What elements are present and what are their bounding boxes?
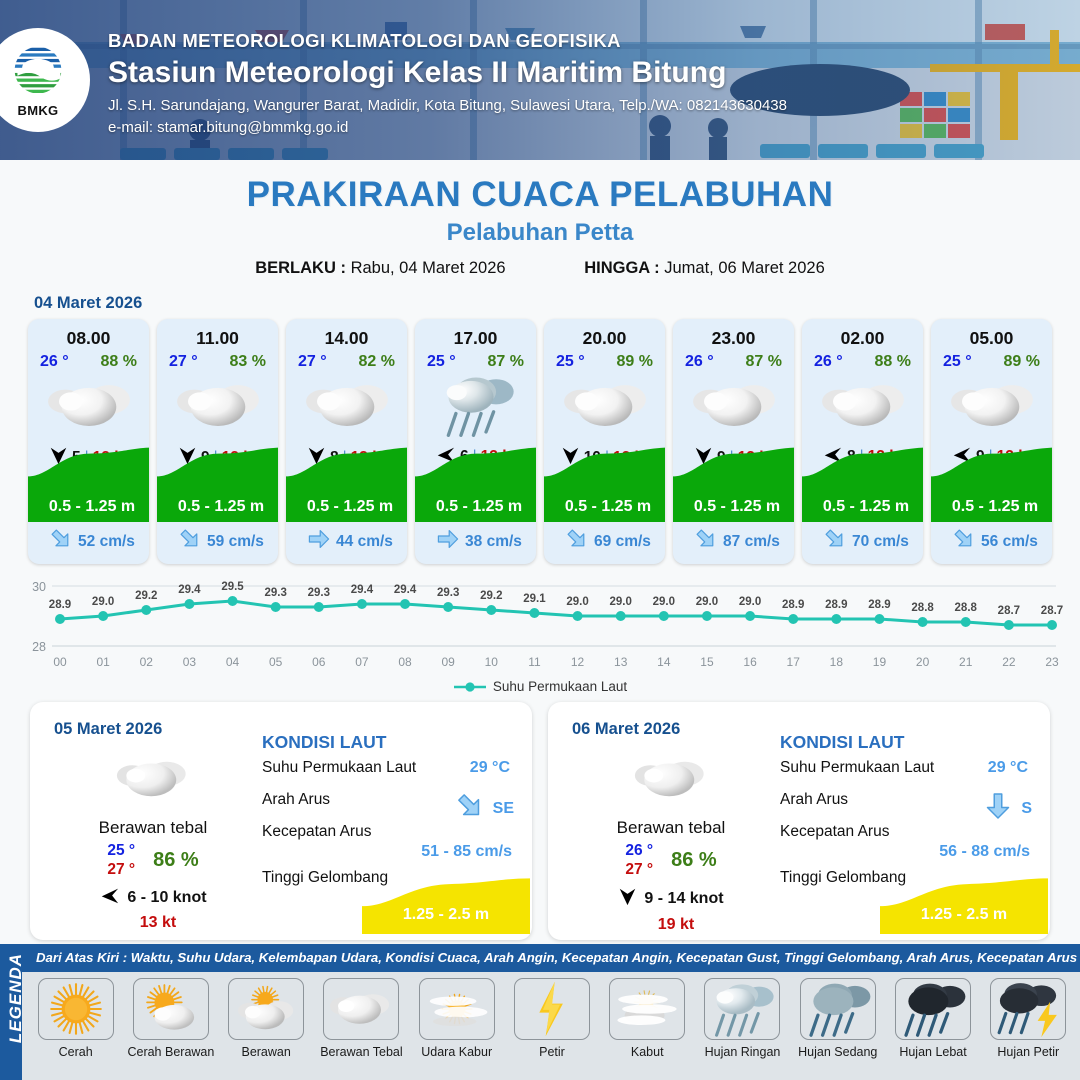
svg-text:28.9: 28.9 bbox=[868, 599, 890, 611]
current-speed-label: Kecepatan Arus bbox=[780, 823, 889, 840]
svg-text:19: 19 bbox=[873, 655, 887, 669]
card-time: 08.00 bbox=[28, 319, 149, 349]
panel-weather-block: Berawan tebal 25 ° 27 ° 86 % 6 - 10 knot… bbox=[48, 748, 258, 932]
card-temperature: 26 ° bbox=[814, 353, 843, 371]
panel-temp-min: 26 ° bbox=[625, 842, 653, 859]
current-direction-arrow-icon bbox=[823, 527, 847, 556]
svg-text:29.2: 29.2 bbox=[480, 590, 502, 602]
day-summary-panel[interactable]: 06 Maret 2026 Berawan tebal 26 ° 27 ° 86… bbox=[548, 702, 1050, 940]
sea-condition-title: KONDISI LAUT bbox=[780, 732, 1036, 753]
current-direction-arrow-icon bbox=[565, 527, 589, 556]
panel-wind-row: 9 - 14 knot bbox=[566, 886, 776, 912]
current-direction-value: S bbox=[1021, 800, 1032, 818]
card-humidity: 88 % bbox=[875, 353, 911, 371]
cloudy-icon bbox=[286, 375, 407, 437]
station-address: Jl. S.H. Sarundajang, Wangurer Barat, Ma… bbox=[108, 97, 787, 114]
svg-text:29.2: 29.2 bbox=[135, 590, 157, 602]
cloudy-icon bbox=[157, 375, 278, 437]
legend-item-label: Berawan bbox=[223, 1045, 310, 1059]
wind-direction-arrow-icon bbox=[99, 886, 120, 910]
svg-text:04: 04 bbox=[226, 655, 240, 669]
berlaku-label: BERLAKU : bbox=[255, 259, 346, 277]
card-current-speed: 52 cm/s bbox=[78, 533, 135, 551]
svg-text:11: 11 bbox=[528, 655, 541, 669]
current-direction-arrow-icon bbox=[983, 791, 1013, 826]
svg-text:08: 08 bbox=[398, 655, 412, 669]
card-humidity: 88 % bbox=[101, 353, 137, 371]
legend-item-label: Petir bbox=[508, 1045, 595, 1059]
hingga-label: HINGGA : bbox=[584, 259, 659, 277]
sun-cloud-icon bbox=[133, 978, 209, 1040]
legend-item-label: Hujan Lebat bbox=[889, 1045, 976, 1059]
station-email: e-mail: stamar.bitung@bmmkg.go.id bbox=[108, 119, 787, 136]
sst-value: 29 °C bbox=[988, 759, 1028, 777]
panel-temp-max: 27 ° bbox=[625, 861, 653, 878]
card-time: 02.00 bbox=[802, 319, 923, 349]
cloudy-icon bbox=[931, 375, 1052, 437]
cloudy-icon bbox=[544, 375, 665, 437]
chart-legend-marker-icon bbox=[453, 681, 487, 693]
panel-wind-range: 6 - 10 knot bbox=[127, 889, 206, 907]
svg-text:29.0: 29.0 bbox=[92, 596, 114, 608]
cloudy-icon bbox=[28, 375, 149, 437]
svg-text:29.3: 29.3 bbox=[437, 587, 459, 599]
forecast-card[interactable]: 02.00 26 ° 88 % 8 | 12 kt 0.5 - 1.25 m 7… bbox=[802, 319, 923, 564]
svg-text:16: 16 bbox=[743, 655, 757, 669]
svg-text:28.9: 28.9 bbox=[49, 599, 71, 611]
legend-item: Hujan Petir bbox=[985, 976, 1072, 1080]
svg-text:29.3: 29.3 bbox=[308, 587, 330, 599]
cloudy-icon bbox=[673, 375, 794, 437]
card-current-speed: 59 cm/s bbox=[207, 533, 264, 551]
thick-cloud-icon bbox=[566, 748, 776, 810]
forecast-card[interactable]: 08.00 26 ° 88 % 5 | 12 kt 0.5 - 1.25 m 5… bbox=[28, 319, 149, 564]
card-current-row: 38 cm/s bbox=[415, 527, 536, 556]
daily-summary-panels: 05 Maret 2026 Berawan tebal 25 ° 27 ° 86… bbox=[0, 694, 1080, 940]
card-current-speed: 70 cm/s bbox=[852, 533, 909, 551]
svg-text:28.7: 28.7 bbox=[998, 605, 1020, 617]
card-current-speed: 38 cm/s bbox=[465, 533, 522, 551]
card-wave-height: 0.5 - 1.25 m bbox=[931, 498, 1052, 516]
legend-item: Cerah bbox=[32, 976, 119, 1080]
card-wave-height: 0.5 - 1.25 m bbox=[286, 498, 407, 516]
svg-text:05: 05 bbox=[269, 655, 283, 669]
svg-text:17: 17 bbox=[787, 655, 801, 669]
card-current-row: 87 cm/s bbox=[673, 527, 794, 556]
chart-legend-label: Suhu Permukaan Laut bbox=[493, 679, 627, 694]
panel-gust: 13 kt bbox=[48, 914, 258, 932]
current-direction-line: Arah Arus S bbox=[780, 791, 1036, 823]
bmkg-emblem-icon bbox=[6, 44, 70, 100]
card-current-speed: 44 cm/s bbox=[336, 533, 393, 551]
svg-text:10: 10 bbox=[485, 655, 499, 669]
legend-item-label: Cerah Berawan bbox=[127, 1045, 214, 1059]
card-wave-height: 0.5 - 1.25 m bbox=[415, 498, 536, 516]
panel-wave-graphic bbox=[362, 876, 530, 934]
svg-text:22: 22 bbox=[1002, 655, 1016, 669]
sst-line: Suhu Permukaan Laut 29 °C bbox=[262, 759, 518, 791]
panel-temp-row: 25 ° 27 ° 86 % bbox=[48, 842, 258, 880]
heavy-rain-icon bbox=[895, 978, 971, 1040]
current-direction-value-wrap: S bbox=[983, 791, 1032, 826]
forecast-card-list: 08.00 26 ° 88 % 5 | 12 kt 0.5 - 1.25 m 5… bbox=[0, 319, 1080, 564]
card-temperature: 26 ° bbox=[685, 353, 714, 371]
panel-humidity: 86 % bbox=[153, 849, 199, 872]
panel-temp-range: 25 ° 27 ° bbox=[107, 842, 135, 880]
bmkg-logo-text: BMKG bbox=[6, 103, 70, 118]
legend-item: Cerah Berawan bbox=[127, 976, 214, 1080]
thick-cloud-icon bbox=[323, 978, 399, 1040]
forecast-card[interactable]: 23.00 26 ° 87 % 9 | 12 kt 0.5 - 1.25 m 8… bbox=[673, 319, 794, 564]
svg-text:29.4: 29.4 bbox=[394, 584, 417, 596]
panel-gust: 19 kt bbox=[566, 916, 776, 934]
card-current-row: 56 cm/s bbox=[931, 527, 1052, 556]
haze-icon bbox=[419, 978, 495, 1040]
sst-label: Suhu Permukaan Laut bbox=[780, 759, 934, 776]
legend-item-label: Cerah bbox=[32, 1045, 119, 1059]
legend-item: Berawan bbox=[223, 976, 310, 1080]
svg-text:29.5: 29.5 bbox=[221, 581, 244, 593]
sst-chart: 302828.929.029.229.429.529.329.329.429.4… bbox=[14, 574, 1066, 676]
card-temperature: 27 ° bbox=[169, 353, 198, 371]
svg-text:00: 00 bbox=[53, 655, 67, 669]
current-speed-value: 51 - 85 cm/s bbox=[421, 843, 512, 861]
panel-temp-max: 27 ° bbox=[107, 861, 135, 878]
svg-text:18: 18 bbox=[830, 655, 844, 669]
svg-text:28: 28 bbox=[32, 640, 46, 654]
card-temp-humidity-row: 26 ° 88 % bbox=[28, 349, 149, 371]
sst-chart-svg: 302828.929.029.229.429.529.329.329.429.4… bbox=[14, 574, 1066, 676]
light-rain-icon bbox=[704, 978, 780, 1040]
svg-text:01: 01 bbox=[96, 655, 110, 669]
validity-row: BERLAKU : Rabu, 04 Maret 2026 HINGGA : J… bbox=[0, 259, 1080, 278]
legend-item-label: Hujan Ringan bbox=[699, 1045, 786, 1059]
svg-text:29.1: 29.1 bbox=[523, 593, 546, 605]
svg-text:06: 06 bbox=[312, 655, 326, 669]
card-current-row: 69 cm/s bbox=[544, 527, 665, 556]
svg-text:15: 15 bbox=[700, 655, 714, 669]
svg-text:29.0: 29.0 bbox=[566, 596, 588, 608]
forecast-card[interactable]: 14.00 27 ° 82 % 8 | 13 kt 0.5 - 1.25 m 4… bbox=[286, 319, 407, 564]
svg-text:29.4: 29.4 bbox=[351, 584, 374, 596]
legend-item-label: Kabut bbox=[604, 1045, 691, 1059]
title-block: PRAKIRAAN CUACA PELABUHAN Pelabuhan Pett… bbox=[0, 160, 1080, 278]
card-temp-humidity-row: 26 ° 88 % bbox=[802, 349, 923, 371]
svg-text:28.9: 28.9 bbox=[825, 599, 847, 611]
svg-text:13: 13 bbox=[614, 655, 628, 669]
legend-items: Cerah Cerah Berawan Berawan Berawan Teba… bbox=[22, 972, 1080, 1080]
current-direction-line: Arah Arus SE bbox=[262, 791, 518, 823]
card-temp-humidity-row: 27 ° 82 % bbox=[286, 349, 407, 371]
panel-wind-row: 6 - 10 knot bbox=[48, 886, 258, 910]
page-header: BMKG BADAN METEOROLOGI KLIMATOLOGI DAN G… bbox=[0, 0, 1080, 160]
legend-side-strip: LEGENDA bbox=[0, 944, 22, 1080]
legend-item-label: Berawan Tebal bbox=[318, 1045, 405, 1059]
sst-label: Suhu Permukaan Laut bbox=[262, 759, 416, 776]
card-current-speed: 87 cm/s bbox=[723, 533, 780, 551]
card-temperature: 25 ° bbox=[556, 353, 585, 371]
svg-text:07: 07 bbox=[355, 655, 369, 669]
current-speed-label: Kecepatan Arus bbox=[262, 823, 371, 840]
svg-text:21: 21 bbox=[959, 655, 973, 669]
card-current-row: 70 cm/s bbox=[802, 527, 923, 556]
legend-item: Hujan Lebat bbox=[889, 976, 976, 1080]
svg-text:29.3: 29.3 bbox=[264, 587, 286, 599]
svg-text:28.8: 28.8 bbox=[911, 602, 934, 614]
current-direction-label: Arah Arus bbox=[780, 791, 848, 808]
forecast-day-label: 04 Maret 2026 bbox=[34, 294, 1080, 313]
card-temp-humidity-row: 25 ° 89 % bbox=[544, 349, 665, 371]
card-time: 20.00 bbox=[544, 319, 665, 349]
agency-name: BADAN METEOROLOGI KLIMATOLOGI DAN GEOFIS… bbox=[108, 30, 787, 52]
card-time: 05.00 bbox=[931, 319, 1052, 349]
panel-wave-value: 1.25 - 2.5 m bbox=[880, 906, 1048, 924]
current-direction-arrow-icon bbox=[455, 791, 485, 826]
svg-text:30: 30 bbox=[32, 580, 46, 594]
card-wave-height: 0.5 - 1.25 m bbox=[673, 498, 794, 516]
legend-item-label: Hujan Petir bbox=[985, 1045, 1072, 1059]
svg-text:23: 23 bbox=[1045, 655, 1059, 669]
current-direction-arrow-icon bbox=[178, 527, 202, 556]
panel-temp-range: 26 ° 27 ° bbox=[625, 842, 653, 880]
card-time: 14.00 bbox=[286, 319, 407, 349]
card-time: 17.00 bbox=[415, 319, 536, 349]
header-text-block: BADAN METEOROLOGI KLIMATOLOGI DAN GEOFIS… bbox=[108, 30, 787, 136]
panel-date: 06 Maret 2026 bbox=[572, 720, 680, 739]
moderate-rain-icon bbox=[800, 978, 876, 1040]
svg-text:28.7: 28.7 bbox=[1041, 605, 1063, 617]
svg-text:02: 02 bbox=[140, 655, 154, 669]
panel-wave-value: 1.25 - 2.5 m bbox=[362, 906, 530, 924]
current-direction-value: SE bbox=[493, 800, 514, 818]
card-temperature: 26 ° bbox=[40, 353, 69, 371]
panel-temp-row: 26 ° 27 ° 86 % bbox=[566, 842, 776, 880]
legend-item: Berawan Tebal bbox=[318, 976, 405, 1080]
day-summary-panel[interactable]: 05 Maret 2026 Berawan tebal 25 ° 27 ° 86… bbox=[30, 702, 532, 940]
current-direction-arrow-icon bbox=[49, 527, 73, 556]
current-speed-line: Kecepatan Arus 51 - 85 cm/s bbox=[262, 823, 518, 855]
svg-text:29.0: 29.0 bbox=[696, 596, 718, 608]
card-wave-height: 0.5 - 1.25 m bbox=[802, 498, 923, 516]
current-direction-value-wrap: SE bbox=[455, 791, 514, 826]
chart-legend: Suhu Permukaan Laut bbox=[0, 679, 1080, 694]
card-humidity: 82 % bbox=[359, 353, 395, 371]
card-time: 11.00 bbox=[157, 319, 278, 349]
legend-item: Hujan Sedang bbox=[794, 976, 881, 1080]
card-current-row: 52 cm/s bbox=[28, 527, 149, 556]
svg-text:28.9: 28.9 bbox=[782, 599, 804, 611]
card-wave-height: 0.5 - 1.25 m bbox=[157, 498, 278, 516]
forecast-card[interactable]: 05.00 25 ° 89 % 9 | 12 kt 0.5 - 1.25 m 5… bbox=[931, 319, 1052, 564]
panel-wave-graphic bbox=[880, 876, 1048, 934]
card-time: 23.00 bbox=[673, 319, 794, 349]
page-subtitle: Pelabuhan Petta bbox=[0, 219, 1080, 247]
station-name: Stasiun Meteorologi Kelas II Maritim Bit… bbox=[108, 56, 787, 90]
sea-condition-title: KONDISI LAUT bbox=[262, 732, 518, 753]
current-speed-line: Kecepatan Arus 56 - 88 cm/s bbox=[780, 823, 1036, 855]
thick-cloud-icon bbox=[48, 748, 258, 810]
thunderstorm-icon bbox=[990, 978, 1066, 1040]
lightning-icon bbox=[514, 978, 590, 1040]
svg-text:20: 20 bbox=[916, 655, 930, 669]
legend-item: Petir bbox=[508, 976, 595, 1080]
berlaku-value: Rabu, 04 Maret 2026 bbox=[351, 259, 506, 277]
forecast-card[interactable]: 11.00 27 ° 83 % 9 | 12 kt 0.5 - 1.25 m 5… bbox=[157, 319, 278, 564]
current-direction-arrow-icon bbox=[307, 527, 331, 556]
sst-line: Suhu Permukaan Laut 29 °C bbox=[780, 759, 1036, 791]
panel-temp-min: 25 ° bbox=[107, 842, 135, 859]
card-temp-humidity-row: 25 ° 87 % bbox=[415, 349, 536, 371]
card-humidity: 83 % bbox=[230, 353, 266, 371]
panel-humidity: 86 % bbox=[671, 849, 717, 872]
fog-icon bbox=[609, 978, 685, 1040]
hingga-value: Jumat, 06 Maret 2026 bbox=[664, 259, 825, 277]
card-wave-height: 0.5 - 1.25 m bbox=[544, 498, 665, 516]
sun-icon bbox=[38, 978, 114, 1040]
current-direction-arrow-icon bbox=[436, 527, 460, 556]
current-direction-arrow-icon bbox=[952, 527, 976, 556]
card-humidity: 87 % bbox=[746, 353, 782, 371]
card-temperature: 25 ° bbox=[943, 353, 972, 371]
svg-text:29.4: 29.4 bbox=[178, 584, 201, 596]
current-speed-value: 56 - 88 cm/s bbox=[939, 843, 1030, 861]
panel-condition: Berawan tebal bbox=[566, 818, 776, 838]
card-current-speed: 56 cm/s bbox=[981, 533, 1038, 551]
card-humidity: 89 % bbox=[1004, 353, 1040, 371]
panel-condition: Berawan tebal bbox=[48, 818, 258, 838]
legend-item-label: Hujan Sedang bbox=[794, 1045, 881, 1059]
panel-weather-block: Berawan tebal 26 ° 27 ° 86 % 9 - 14 knot… bbox=[566, 748, 776, 934]
card-temperature: 27 ° bbox=[298, 353, 327, 371]
svg-text:09: 09 bbox=[441, 655, 455, 669]
legend-item-label: Udara Kabur bbox=[413, 1045, 500, 1059]
legend-bar: Dari Atas Kiri : Waktu, Suhu Udara, Kele… bbox=[0, 944, 1080, 1080]
page-title: PRAKIRAAN CUACA PELABUHAN bbox=[0, 175, 1080, 215]
legend-item: Udara Kabur bbox=[413, 976, 500, 1080]
card-current-row: 44 cm/s bbox=[286, 527, 407, 556]
svg-text:28.8: 28.8 bbox=[955, 602, 978, 614]
forecast-card[interactable]: 20.00 25 ° 89 % 10 | 12 kt 0.5 - 1.25 m … bbox=[544, 319, 665, 564]
card-temp-humidity-row: 25 ° 89 % bbox=[931, 349, 1052, 371]
legend-note: Dari Atas Kiri : Waktu, Suhu Udara, Kele… bbox=[36, 950, 1072, 965]
panel-date: 05 Maret 2026 bbox=[54, 720, 162, 739]
card-humidity: 87 % bbox=[488, 353, 524, 371]
svg-text:12: 12 bbox=[571, 655, 585, 669]
svg-text:14: 14 bbox=[657, 655, 671, 669]
card-temp-humidity-row: 26 ° 87 % bbox=[673, 349, 794, 371]
card-humidity: 89 % bbox=[617, 353, 653, 371]
card-temperature: 25 ° bbox=[427, 353, 456, 371]
current-direction-arrow-icon bbox=[694, 527, 718, 556]
svg-text:29.0: 29.0 bbox=[610, 596, 632, 608]
legend-item: Kabut bbox=[604, 976, 691, 1080]
svg-text:03: 03 bbox=[183, 655, 197, 669]
sst-value: 29 °C bbox=[470, 759, 510, 777]
card-wave-height: 0.5 - 1.25 m bbox=[28, 498, 149, 516]
card-current-speed: 69 cm/s bbox=[594, 533, 651, 551]
forecast-card[interactable]: 17.00 25 ° 87 % 6 | 12 kt 0.5 - 1.25 m bbox=[415, 319, 536, 564]
panel-wind-range: 9 - 14 knot bbox=[644, 890, 723, 908]
wind-direction-arrow-icon bbox=[618, 886, 637, 912]
legend-item: Hujan Ringan bbox=[699, 976, 786, 1080]
light-rain-icon bbox=[415, 375, 536, 437]
svg-text:29.0: 29.0 bbox=[653, 596, 675, 608]
cloud-sun-icon bbox=[228, 978, 304, 1040]
current-direction-label: Arah Arus bbox=[262, 791, 330, 808]
card-temp-humidity-row: 27 ° 83 % bbox=[157, 349, 278, 371]
card-current-row: 59 cm/s bbox=[157, 527, 278, 556]
svg-text:29.0: 29.0 bbox=[739, 596, 761, 608]
cloudy-icon bbox=[802, 375, 923, 437]
